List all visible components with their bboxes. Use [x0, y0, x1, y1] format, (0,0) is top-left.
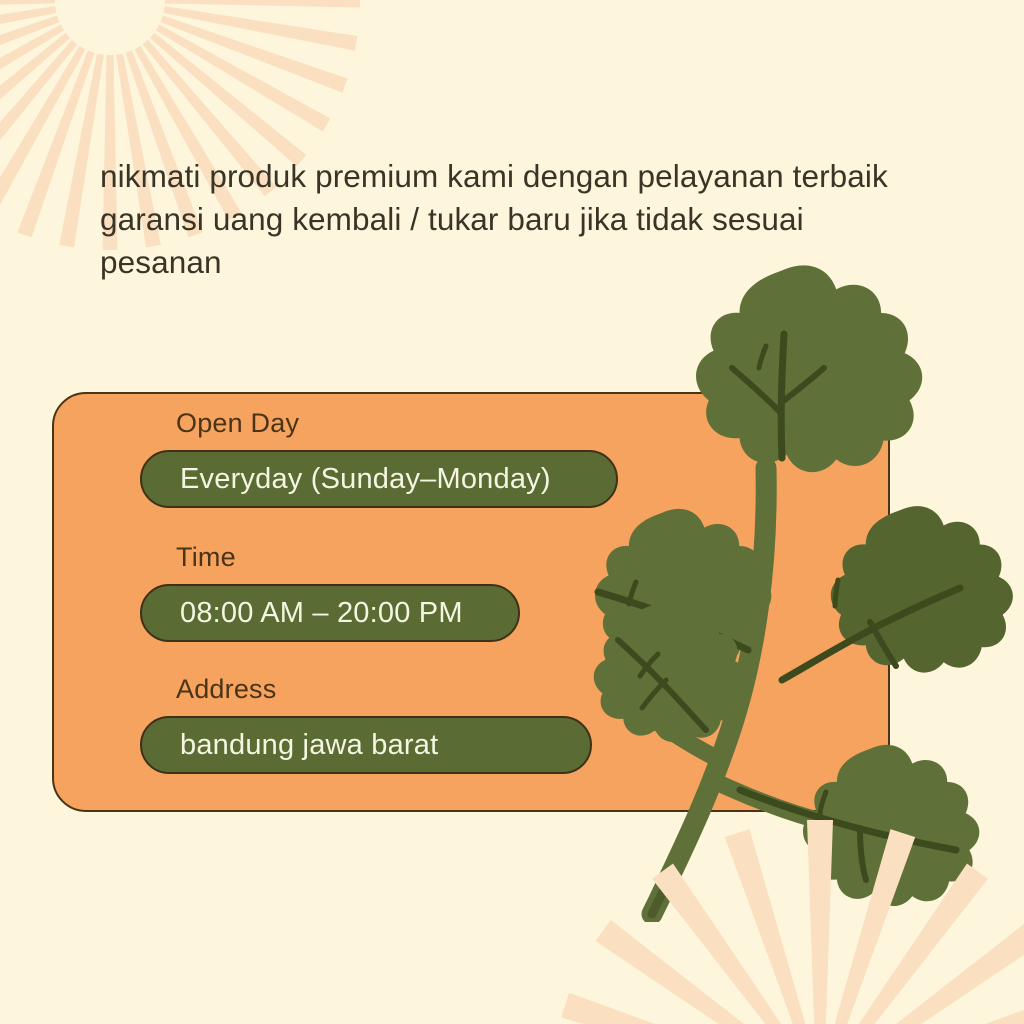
poster-canvas: nikmati produk premium kami dengan pelay…	[0, 0, 1024, 1024]
field-pill-open-day[interactable]: Everyday (Sunday–Monday)	[140, 450, 618, 508]
field-pill-address[interactable]: bandung jawa barat	[140, 716, 592, 774]
field-time: Time 08:00 AM – 20:00 PM	[140, 540, 520, 642]
field-label-open-day: Open Day	[176, 406, 618, 440]
field-value-time: 08:00 AM – 20:00 PM	[180, 599, 463, 628]
field-value-address: bandung jawa barat	[180, 731, 438, 760]
field-label-time: Time	[176, 540, 520, 574]
info-card: Open Day Everyday (Sunday–Monday) Time 0…	[52, 392, 890, 812]
field-label-address: Address	[176, 672, 592, 706]
field-open-day: Open Day Everyday (Sunday–Monday)	[140, 406, 618, 508]
field-address: Address bandung jawa barat	[140, 672, 592, 774]
page-title: nikmati produk premium kami dengan pelay…	[100, 155, 930, 284]
sunburst-bottom-right-icon	[540, 808, 1024, 1024]
field-pill-time[interactable]: 08:00 AM – 20:00 PM	[140, 584, 520, 642]
field-value-open-day: Everyday (Sunday–Monday)	[180, 465, 551, 494]
